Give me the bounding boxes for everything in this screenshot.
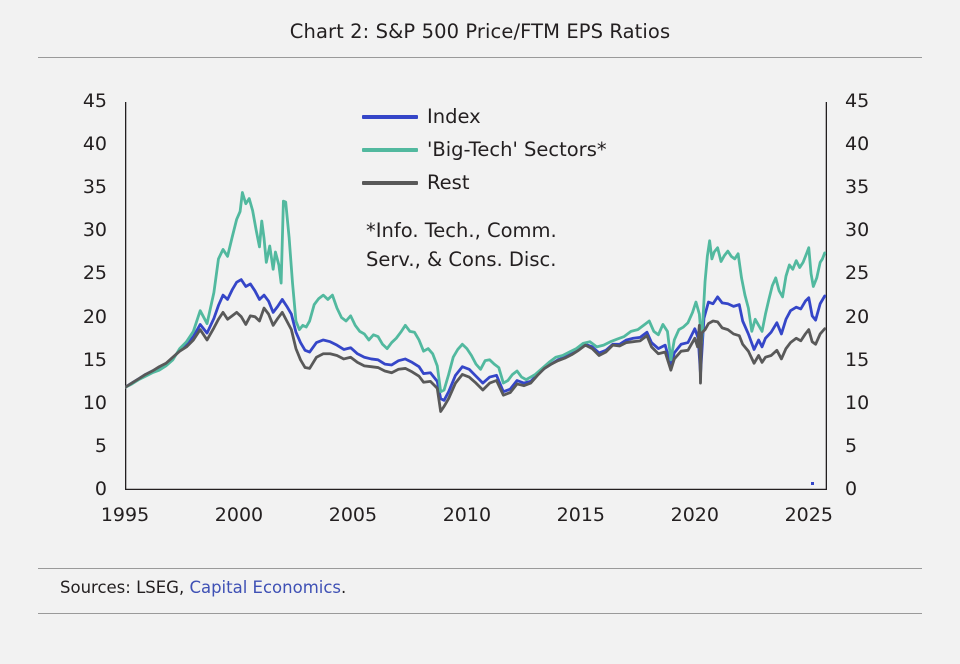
- x-axis-tick-label: 2020: [650, 506, 740, 525]
- y-axis-tick-label-left: 20: [61, 308, 107, 327]
- y-axis-tick-label-left: 35: [61, 178, 107, 197]
- x-axis-tick-label: 2025: [764, 506, 854, 525]
- legend-color-swatch: [362, 148, 418, 152]
- chart-legend: Index'Big-Tech' Sectors*Rest: [362, 100, 607, 199]
- divider-mid: [38, 568, 922, 569]
- divider-top: [38, 57, 922, 58]
- legend-label: Index: [427, 105, 481, 128]
- y-axis-tick-label-left: 30: [61, 221, 107, 240]
- y-axis-tick-label-right: 5: [845, 437, 891, 456]
- legend-item[interactable]: Index: [362, 100, 607, 133]
- y-axis-tick-label-right: 25: [845, 264, 891, 283]
- series-end-marker: [811, 482, 814, 485]
- y-axis-tick-label-right: 45: [845, 92, 891, 111]
- x-axis-tick-label: 2005: [308, 506, 398, 525]
- y-axis-tick-label-left: 45: [61, 92, 107, 111]
- y-axis-tick-label-right: 0: [845, 480, 891, 499]
- y-axis-tick-label-right: 20: [845, 308, 891, 327]
- y-axis-tick-label-right: 30: [845, 221, 891, 240]
- y-axis-tick-label-left: 40: [61, 135, 107, 154]
- sources-line: Sources: LSEG, Capital Economics.: [60, 578, 346, 597]
- x-axis-tick-label: 2015: [536, 506, 626, 525]
- x-axis-tick-label: 1995: [80, 506, 170, 525]
- sources-suffix: .: [341, 578, 346, 597]
- legend-item[interactable]: 'Big-Tech' Sectors*: [362, 133, 607, 166]
- y-axis-tick-label-right: 15: [845, 351, 891, 370]
- y-axis-tick-label-left: 15: [61, 351, 107, 370]
- y-axis-tick-label-left: 5: [61, 437, 107, 456]
- y-axis-tick-label-left: 25: [61, 264, 107, 283]
- y-axis-tick-label-left: 10: [61, 394, 107, 413]
- legend-color-swatch: [362, 181, 418, 185]
- x-axis-tick-label: 2000: [194, 506, 284, 525]
- page-title: Chart 2: S&P 500 Price/FTM EPS Ratios: [0, 20, 960, 43]
- y-axis-tick-label-left: 0: [61, 480, 107, 499]
- x-axis-tick-label: 2010: [422, 506, 512, 525]
- legend-color-swatch: [362, 115, 418, 119]
- chart-page: Chart 2: S&P 500 Price/FTM EPS Ratios 00…: [0, 0, 960, 664]
- sources-brand-link[interactable]: Capital Economics: [189, 578, 341, 597]
- divider-bottom: [38, 613, 922, 614]
- y-axis-tick-label-right: 10: [845, 394, 891, 413]
- sources-prefix: Sources: LSEG,: [60, 578, 189, 597]
- legend-item[interactable]: Rest: [362, 166, 607, 199]
- y-axis-tick-label-right: 35: [845, 178, 891, 197]
- legend-label: Rest: [427, 171, 469, 194]
- footnote-line-1: *Info. Tech., Comm.: [366, 219, 557, 242]
- legend-label: 'Big-Tech' Sectors*: [427, 138, 607, 161]
- footnote-line-2: Serv., & Cons. Disc.: [366, 248, 556, 271]
- footnote: *Info. Tech., Comm. Serv., & Cons. Disc.: [366, 216, 557, 274]
- y-axis-tick-label-right: 40: [845, 135, 891, 154]
